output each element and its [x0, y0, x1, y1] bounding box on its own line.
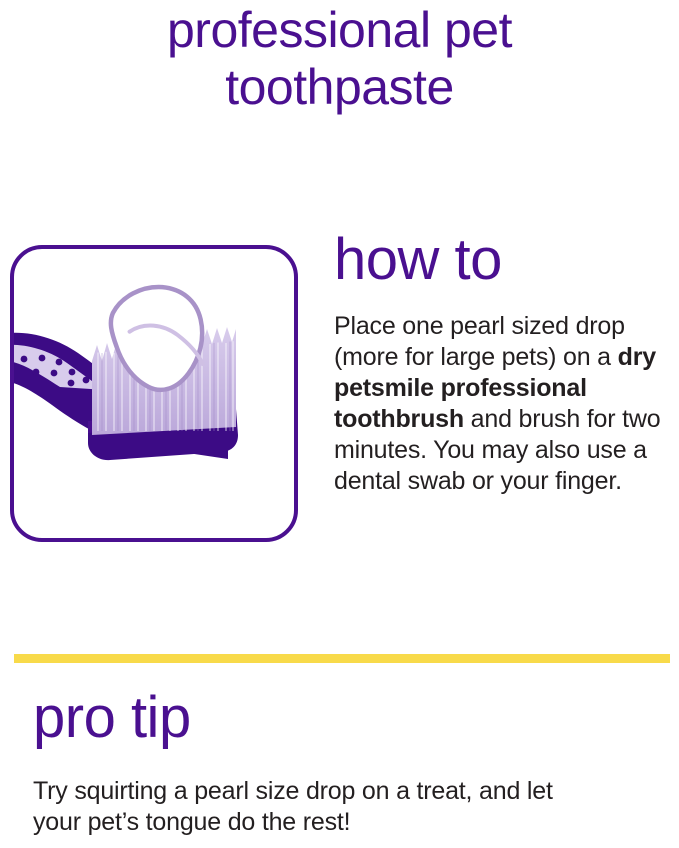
how-to-body: Place one pearl sized drop (more for lar…	[334, 311, 664, 497]
page-title: professional pet toothpaste	[0, 2, 679, 116]
pro-tip-body-line-1: Try squirting a pearl size drop on a tre…	[33, 776, 653, 807]
how-to-section: how to Place one pearl sized drop (more …	[0, 228, 679, 568]
pro-tip-body: Try squirting a pearl size drop on a tre…	[33, 776, 653, 838]
illustration-frame	[10, 245, 298, 542]
pro-tip-heading: pro tip	[33, 686, 653, 750]
how-to-text-column: how to Place one pearl sized drop (more …	[334, 228, 664, 497]
how-to-heading: how to	[334, 228, 664, 292]
pro-tip-body-line-2: your pet’s tongue do the rest!	[33, 807, 653, 838]
toothbrush-with-toothpaste-illustration	[14, 249, 294, 538]
page-title-line-2: toothpaste	[0, 59, 679, 116]
page-title-line-1: professional pet	[0, 2, 679, 59]
yellow-divider-bar	[14, 654, 670, 663]
how-to-body-text-before-bold: Place one pearl sized drop (more for lar…	[334, 312, 625, 371]
pro-tip-section: pro tip Try squirting a pearl size drop …	[33, 686, 653, 838]
